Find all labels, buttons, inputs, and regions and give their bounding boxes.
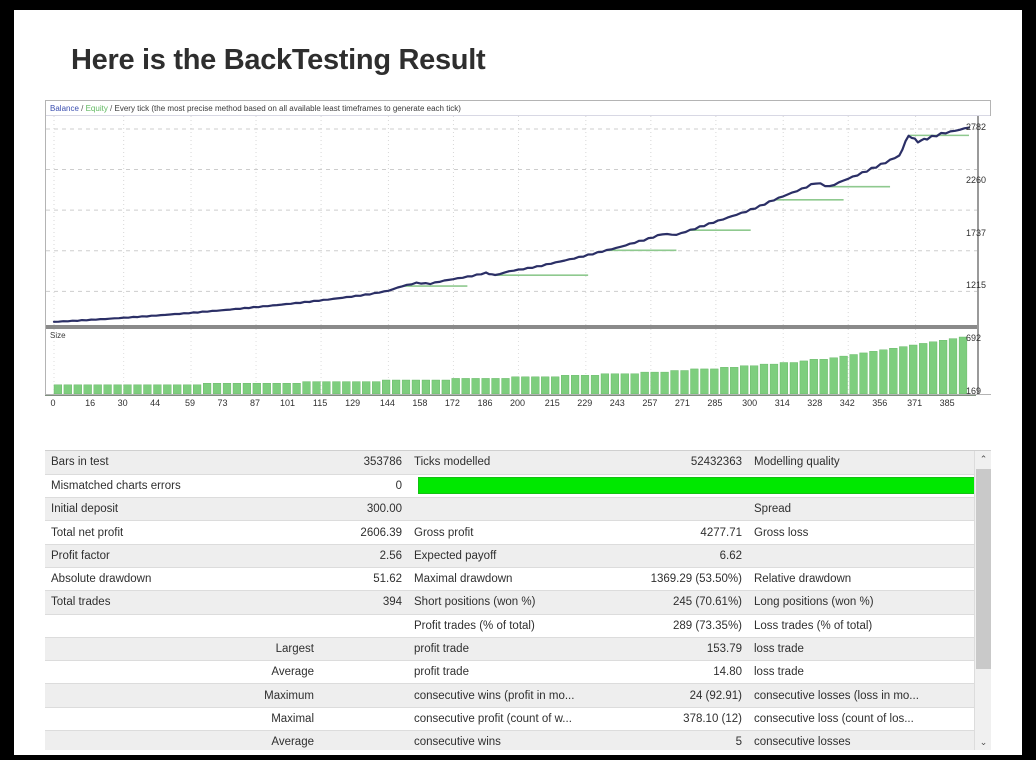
size-bar xyxy=(830,358,838,394)
size-bar xyxy=(840,356,848,394)
size-bar xyxy=(303,382,311,394)
size-bar xyxy=(382,380,390,394)
cell-label xyxy=(45,614,320,637)
x-axis-tick-73: 73 xyxy=(218,398,228,408)
size-bar xyxy=(124,385,132,394)
x-axis-line xyxy=(45,395,976,396)
size-bar xyxy=(502,378,510,394)
size-bar xyxy=(462,378,470,394)
size-bar xyxy=(104,385,112,394)
cell-value xyxy=(320,661,408,684)
cell-label: Total net profit xyxy=(45,521,320,544)
x-axis: 0163044597387101115129144158172186200215… xyxy=(45,395,991,413)
size-bar xyxy=(263,383,271,394)
cell-value: -15.92 xyxy=(938,661,974,684)
size-bar xyxy=(899,347,907,394)
x-axis-tick-0: 0 xyxy=(50,398,55,408)
size-bar xyxy=(939,340,947,394)
size-bar xyxy=(233,383,241,394)
cell-value: 353786 xyxy=(320,451,408,474)
cell-label: Relative drawdown xyxy=(748,567,938,590)
screenshot-root: Here is the BackTesting Result Balance /… xyxy=(14,10,1022,755)
cell-label: Ticks modelled xyxy=(408,451,618,474)
cell-value xyxy=(320,614,408,637)
cell-value: -108.42 xyxy=(938,637,974,660)
cell-label: Loss trades (% of total) xyxy=(748,614,938,637)
cell-value: 6.62 xyxy=(618,544,748,567)
cell-value: 5 xyxy=(618,731,748,750)
report-scrollbar[interactable]: ⌃ ⌄ xyxy=(974,451,991,750)
cell-label: Mismatched charts errors xyxy=(45,474,320,497)
size-bar xyxy=(154,385,162,394)
cell-label: Modelling quality xyxy=(748,451,938,474)
size-bar xyxy=(949,339,957,394)
size-bar xyxy=(770,364,778,394)
size-bar xyxy=(203,383,211,394)
report-table-body: Bars in test353786Ticks modelled52432363… xyxy=(45,451,974,750)
size-bar xyxy=(213,383,221,394)
cell-value: 149 (77.85%) xyxy=(938,591,974,614)
y-axis-tick-2782: 2782 xyxy=(966,122,986,132)
cell-value: 245 (70.61%) xyxy=(618,591,748,614)
size-bar xyxy=(253,383,261,394)
size-bar xyxy=(641,372,649,394)
cell-value: 105 (26.65%) xyxy=(938,614,974,637)
table-row[interactable]: Averageprofit trade14.80loss trade-15.92 xyxy=(45,661,974,684)
size-bar xyxy=(243,383,251,394)
x-axis-tick-271: 271 xyxy=(675,398,690,408)
size-bar xyxy=(571,375,579,394)
size-bar xyxy=(880,350,888,394)
table-row[interactable]: Profit trades (% of total)289 (73.35%)Lo… xyxy=(45,614,974,637)
report-table-scroll-area[interactable]: Bars in test353786Ticks modelled52432363… xyxy=(45,451,974,750)
size-bar xyxy=(223,383,231,394)
size-bar xyxy=(621,374,629,394)
cell-value: 5 (-165.04) xyxy=(938,684,974,707)
size-bar xyxy=(760,364,768,394)
size-bar xyxy=(283,383,291,394)
x-axis-tick-44: 44 xyxy=(150,398,160,408)
y-axis-tick-1215: 1215 xyxy=(966,280,986,290)
cell-value: 24 (92.91) xyxy=(618,684,748,707)
y-axis-tick-692: 692 xyxy=(966,333,981,343)
cell-label: consecutive loss (count of los... xyxy=(748,707,938,730)
table-row[interactable]: Profit factor2.56Expected payoff6.62 xyxy=(45,544,974,567)
cell-value: 71.81% (1141.76) xyxy=(938,567,974,590)
x-axis-tick-16: 16 xyxy=(85,398,95,408)
cell-label: Maximum xyxy=(45,684,320,707)
cell-label: Absolute drawdown xyxy=(45,567,320,590)
cell-label: Profit trades (% of total) xyxy=(408,614,618,637)
cell-label: profit trade xyxy=(408,661,618,684)
size-bar xyxy=(561,375,569,394)
cell-label: Bars in test xyxy=(45,451,320,474)
table-row[interactable]: Mismatched charts errors0 xyxy=(45,474,974,497)
size-bar xyxy=(372,382,380,394)
size-bar xyxy=(651,372,659,394)
size-bar xyxy=(531,377,539,394)
page-title: Here is the BackTesting Result xyxy=(71,44,485,77)
x-axis-tick-172: 172 xyxy=(445,398,460,408)
size-bar xyxy=(512,377,520,394)
cell-label: Average xyxy=(45,731,320,750)
x-axis-tick-101: 101 xyxy=(280,398,295,408)
cell-value: 153.79 xyxy=(618,637,748,660)
legend-separator-1: / xyxy=(79,104,86,113)
size-bar xyxy=(929,342,937,394)
size-bar xyxy=(551,377,559,394)
cell-value: 2 xyxy=(938,731,974,750)
size-bar xyxy=(352,382,360,394)
size-bar xyxy=(701,369,709,394)
x-axis-tick-314: 314 xyxy=(775,398,790,408)
size-bar xyxy=(671,371,679,395)
size-bar xyxy=(432,380,440,394)
table-row[interactable]: Largestprofit trade153.79loss trade-108.… xyxy=(45,637,974,660)
table-row[interactable]: Total net profit2606.39Gross profit4277.… xyxy=(45,521,974,544)
backtest-chart-panel: Balance / Equity / Every tick (the most … xyxy=(45,100,991,395)
cell-label: consecutive profit (count of w... xyxy=(408,707,618,730)
size-bar xyxy=(273,383,281,394)
x-axis-tick-356: 356 xyxy=(872,398,887,408)
size-bar xyxy=(800,361,808,394)
size-bar xyxy=(780,363,788,395)
modelling-quality-bar-cell xyxy=(408,474,974,497)
cell-label xyxy=(408,498,618,521)
cell-value: 50 xyxy=(938,498,974,521)
cell-value: 4277.71 xyxy=(618,521,748,544)
cell-label: profit trade xyxy=(408,637,618,660)
x-axis-tick-115: 115 xyxy=(313,398,327,408)
size-bar xyxy=(710,369,718,394)
x-axis-tick-186: 186 xyxy=(477,398,492,408)
size-bar xyxy=(114,385,122,394)
size-bar xyxy=(163,385,171,394)
modelling-quality-bar xyxy=(418,477,974,494)
horizontal-gridlines xyxy=(46,129,977,291)
equity-floor-segments xyxy=(402,135,969,286)
size-bar xyxy=(492,378,500,394)
y-axis-tick-2260: 2260 xyxy=(966,175,986,185)
size-bar xyxy=(472,378,480,394)
cell-label: Gross loss xyxy=(748,521,938,544)
chart-method-description: Every tick (the most precise method base… xyxy=(115,104,461,113)
x-axis-tick-87: 87 xyxy=(250,398,260,408)
x-axis-tick-158: 158 xyxy=(412,398,427,408)
cell-label: Gross profit xyxy=(408,521,618,544)
size-bar xyxy=(661,372,669,394)
x-axis-tick-229: 229 xyxy=(577,398,592,408)
size-bar xyxy=(392,380,400,394)
cell-label: consecutive losses xyxy=(748,731,938,750)
cell-value: 51.62 xyxy=(320,567,408,590)
size-bar xyxy=(909,345,917,394)
size-bar xyxy=(442,380,450,394)
x-axis-tick-300: 300 xyxy=(742,398,757,408)
size-bar xyxy=(591,375,599,394)
size-bar xyxy=(860,353,868,394)
backtest-report-panel: Bars in test353786Ticks modelled52432363… xyxy=(45,450,991,750)
size-bar xyxy=(521,377,529,394)
size-bar xyxy=(134,385,142,394)
size-bar xyxy=(919,343,927,394)
scroll-up-arrow-icon[interactable]: ⌃ xyxy=(975,451,991,468)
size-bar xyxy=(482,378,490,394)
size-subchart xyxy=(46,329,977,394)
size-bar xyxy=(293,383,301,394)
cell-label: consecutive wins xyxy=(408,731,618,750)
size-bar xyxy=(144,385,152,394)
table-row[interactable]: Averageconsecutive wins5consecutive loss… xyxy=(45,731,974,750)
size-bar xyxy=(681,371,689,395)
size-subchart-label: Size xyxy=(50,331,66,340)
cell-value: 1369.29 (53.50%) xyxy=(618,567,748,590)
size-bar xyxy=(333,382,341,394)
size-bar xyxy=(94,385,102,394)
x-axis-tick-129: 129 xyxy=(345,398,360,408)
size-bar xyxy=(730,367,738,394)
size-bar xyxy=(820,359,828,394)
cell-label: consecutive losses (loss in mo... xyxy=(748,684,938,707)
cell-value: 14.80 xyxy=(618,661,748,684)
size-bar xyxy=(193,385,201,394)
size-bar xyxy=(790,363,798,395)
cell-label: Total trades xyxy=(45,591,320,614)
size-bar xyxy=(173,385,181,394)
x-axis-tick-328: 328 xyxy=(807,398,822,408)
table-row[interactable]: Total trades394Short positions (won %)24… xyxy=(45,591,974,614)
table-row[interactable]: Initial deposit300.00Spread50 xyxy=(45,498,974,521)
size-bar xyxy=(631,374,639,394)
cell-label: Spread xyxy=(748,498,938,521)
size-bar xyxy=(541,377,549,394)
size-bar xyxy=(452,378,460,394)
cell-value xyxy=(320,731,408,750)
scrollbar-thumb[interactable] xyxy=(976,469,991,669)
cell-value xyxy=(320,684,408,707)
size-bar xyxy=(691,369,699,394)
cell-value: 2.56 xyxy=(320,544,408,567)
cell-label xyxy=(748,544,938,567)
vertical-gridlines xyxy=(54,116,916,325)
cell-value: 52432363 xyxy=(618,451,748,474)
size-bar xyxy=(323,382,331,394)
cell-value: 300.00 xyxy=(320,498,408,521)
report-table: Bars in test353786Ticks modelled52432363… xyxy=(45,451,974,750)
size-bar xyxy=(740,366,748,394)
cell-label: Average xyxy=(45,661,320,684)
cell-value: n/a xyxy=(938,451,974,474)
cell-value xyxy=(320,637,408,660)
size-bar xyxy=(183,385,191,394)
legend-balance-label[interactable]: Balance xyxy=(50,104,79,113)
cell-label: Long positions (won %) xyxy=(748,591,938,614)
cell-value: -1671.33 xyxy=(938,521,974,544)
x-axis-tick-342: 342 xyxy=(840,398,855,408)
size-bar xyxy=(611,374,619,394)
size-bar xyxy=(750,366,758,394)
legend-separator-2: / xyxy=(108,104,115,113)
cell-label: Largest xyxy=(45,637,320,660)
cell-value: 2606.39 xyxy=(320,521,408,544)
x-axis-tick-200: 200 xyxy=(510,398,525,408)
cell-value xyxy=(320,707,408,730)
cell-label: loss trade xyxy=(748,637,938,660)
cell-value xyxy=(938,544,974,567)
cell-label: Profit factor xyxy=(45,544,320,567)
x-axis-tick-59: 59 xyxy=(185,398,195,408)
size-bars-svg xyxy=(46,329,977,394)
cell-value: 289 (73.35%) xyxy=(618,614,748,637)
x-axis-tick-144: 144 xyxy=(380,398,395,408)
cell-value xyxy=(618,498,748,521)
size-bar xyxy=(422,380,430,394)
size-bar xyxy=(362,382,370,394)
y-axis-tick-1737: 1737 xyxy=(966,228,986,238)
equity-curve-plot xyxy=(46,116,977,325)
x-axis-tick-30: 30 xyxy=(118,398,128,408)
cell-label: consecutive wins (profit in mo... xyxy=(408,684,618,707)
table-row[interactable]: Maximalconsecutive profit (count of w...… xyxy=(45,707,974,730)
x-axis-tick-243: 243 xyxy=(610,398,625,408)
x-axis-tick-215: 215 xyxy=(545,398,560,408)
cell-value: 378.10 (12) xyxy=(618,707,748,730)
size-bar xyxy=(313,382,321,394)
x-axis-tick-257: 257 xyxy=(642,398,657,408)
chart-legend-header: Balance / Equity / Every tick (the most … xyxy=(46,101,990,116)
size-bar xyxy=(581,375,589,394)
equity-curve-svg xyxy=(46,116,977,325)
table-row[interactable]: Bars in test353786Ticks modelled52432363… xyxy=(45,451,974,474)
table-row[interactable]: Absolute drawdown51.62Maximal drawdown13… xyxy=(45,567,974,590)
size-bar xyxy=(54,385,62,394)
size-bar xyxy=(74,385,82,394)
size-bar xyxy=(720,367,728,394)
x-axis-tick-385: 385 xyxy=(940,398,955,408)
cell-label: Maximal xyxy=(45,707,320,730)
size-bar xyxy=(870,351,878,394)
cell-label: Initial deposit xyxy=(45,498,320,521)
size-bar xyxy=(64,385,72,394)
size-bar xyxy=(402,380,410,394)
cell-label: Expected payoff xyxy=(408,544,618,567)
cell-value: -248.69 (4) xyxy=(938,707,974,730)
size-bar xyxy=(342,382,350,394)
size-bar xyxy=(810,359,818,394)
size-bar xyxy=(412,380,420,394)
size-bar xyxy=(889,348,897,394)
scroll-down-arrow-icon[interactable]: ⌄ xyxy=(975,734,991,750)
cell-label: loss trade xyxy=(748,661,938,684)
table-row[interactable]: Maximumconsecutive wins (profit in mo...… xyxy=(45,684,974,707)
legend-equity-label[interactable]: Equity xyxy=(86,104,108,113)
size-bar xyxy=(84,385,92,394)
size-bar xyxy=(850,355,858,395)
cell-value: 394 xyxy=(320,591,408,614)
x-axis-tick-285: 285 xyxy=(707,398,722,408)
x-axis-tick-371: 371 xyxy=(907,398,922,408)
cell-label: Maximal drawdown xyxy=(408,567,618,590)
y-axis-tick-labels: 2782226017371215692169 xyxy=(962,100,1014,395)
cell-value: 0 xyxy=(320,474,408,497)
cell-label: Short positions (won %) xyxy=(408,591,618,614)
size-bar xyxy=(601,374,609,394)
